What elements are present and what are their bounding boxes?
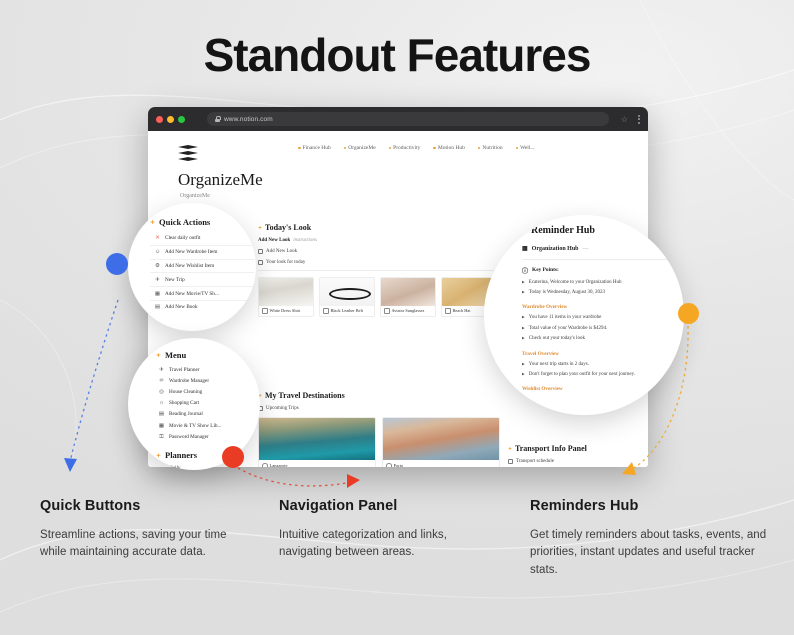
reminder-hub-panel: Reminder Hub ▦ Organization Hub — ⓘ Key … xyxy=(522,225,674,392)
caption-heading: Reminders Hub xyxy=(530,498,770,514)
connector-dot-orange xyxy=(678,303,699,324)
upcoming-trips-label: Upcoming Trips xyxy=(266,406,299,411)
quick-action-label: Add New Wishlist Item xyxy=(165,263,214,269)
wardrobe-point-item: Check out your today's look xyxy=(522,336,674,341)
outfit-card[interactable]: White Dress Shirt xyxy=(258,277,314,318)
quick-action-add-wardrobe-item[interactable]: ☺ Add New Wardrobe Item xyxy=(150,246,254,260)
menu-item-label: Shopping Cart xyxy=(169,400,199,406)
travel-point-item: Don't forget to plan your outfit for you… xyxy=(522,372,674,377)
quick-action-label: Add New Movie/TV Sh... xyxy=(165,291,219,297)
lock-icon xyxy=(215,116,220,122)
trip-card[interactable]: Porto xyxy=(382,417,500,467)
trip-card[interactable]: Lanzarote xyxy=(258,417,376,467)
menu-item-house-cleaning[interactable]: ◎ House Cleaning xyxy=(156,386,256,397)
nav-item-nutrition[interactable]: Nutrition xyxy=(478,145,503,151)
transport-schedule-label: Transport schedule xyxy=(516,459,554,464)
key-points-label: Key Points: xyxy=(532,267,559,273)
browser-toolbar: www.notion.com ☆ xyxy=(148,107,648,131)
quick-action-new-trip[interactable]: ✈ New Trip xyxy=(150,273,254,287)
notion-header: OrganizeMe OrganizeMe xyxy=(148,131,648,199)
plane-icon: ✈ xyxy=(158,367,165,373)
wardrobe-point-item: You have 11 items in your wardrobe xyxy=(522,315,674,320)
connector-dot-blue xyxy=(106,253,128,275)
person-icon xyxy=(258,260,263,265)
nav-item-organizeme[interactable]: OrganizeMe xyxy=(344,145,376,151)
quick-action-label: Add New Wardrobe Item xyxy=(165,249,217,255)
quick-action-label: Clear daily outfit xyxy=(165,235,200,241)
notion-topnav[interactable]: Finance Hub OrganizeMe Productivity Moti… xyxy=(298,145,642,151)
transport-info-title: Transport Info Panel xyxy=(508,444,648,453)
transport-schedule-row[interactable]: Transport schedule xyxy=(508,459,648,464)
your-look-row[interactable]: Your look for today xyxy=(258,260,508,265)
building-icon: ▦ xyxy=(522,245,528,252)
caption-quick-buttons: Quick Buttons Streamline actions, saving… xyxy=(0,498,268,618)
quick-action-clear-daily-outfit[interactable]: ✕ Clear daily outfit xyxy=(150,232,254,246)
menu-item-label: Reading Journal xyxy=(169,411,203,417)
film-icon: ▦ xyxy=(154,291,161,297)
outfit-card-list: White Dress Shirt Black Leather Belt Avi… xyxy=(258,277,508,318)
nav-item-finance-hub[interactable]: Finance Hub xyxy=(298,145,331,151)
quick-actions-bubble: Quick Actions ✕ Clear daily outfit ☺ Add… xyxy=(128,203,256,331)
add-new-look-note: instructions xyxy=(293,238,317,243)
menu-title: Menu xyxy=(156,350,256,360)
add-new-look-label: Add New Look xyxy=(258,238,290,243)
quick-actions-title: Quick Actions xyxy=(150,217,254,227)
brand-subtitle: OrganizeMe xyxy=(178,193,648,199)
trip-card-list: Lanzarote Porto xyxy=(258,417,508,467)
info-icon: ⓘ xyxy=(522,266,528,275)
outfit-card[interactable]: Aviator Sunglasses xyxy=(380,277,436,318)
quick-actions-panel: Quick Actions ✕ Clear daily outfit ☺ Add… xyxy=(150,217,254,314)
travel-overview-heading: Travel Overview xyxy=(522,351,674,357)
plane-icon: ✈ xyxy=(154,277,161,283)
wishlist-overview-heading: Wishlist Overview xyxy=(522,386,674,392)
page-title: Standout Features xyxy=(0,28,794,82)
person-icon xyxy=(258,249,263,254)
journal-icon: ▤ xyxy=(158,411,165,417)
star-icon[interactable]: ☆ xyxy=(621,115,628,124)
trip-card-label: Porto xyxy=(383,460,499,467)
wardrobe-point-item: Total value of your Wardrobe is $4294. xyxy=(522,326,674,331)
outfit-card-label: White Dress Shirt xyxy=(259,306,313,317)
organization-hub-label: Organization Hub xyxy=(532,246,579,252)
train-icon xyxy=(508,459,513,464)
book-icon: ▤ xyxy=(154,304,161,310)
todays-look-section: Today's Look Add New Look instructions A… xyxy=(258,223,508,317)
menu-item-shopping-cart[interactable]: ☼ Shopping Cart xyxy=(156,398,256,409)
trip-card-label: Lanzarote xyxy=(259,460,375,467)
travel-point-item: Your next trip starts in 2 days. xyxy=(522,362,674,367)
menu-item-label: Wardrobe Manager xyxy=(169,378,209,384)
hanger-icon: ♾ xyxy=(158,378,165,384)
outfit-image xyxy=(381,278,435,306)
caption-body: Streamline actions, saving your time whi… xyxy=(40,527,244,562)
quick-actions-list: ✕ Clear daily outfit ☺ Add New Wardrobe … xyxy=(150,232,254,314)
quick-action-label: Add New Book xyxy=(165,304,198,310)
divider xyxy=(522,259,674,260)
menu-list: ✈ Travel Planner ♾ Wardrobe Manager ◎ Ho… xyxy=(156,364,256,443)
caption-body: Intuitive categorization and links, navi… xyxy=(279,527,496,562)
add-new-look-row[interactable]: Add New Look instructions xyxy=(258,238,508,243)
feature-captions: Quick Buttons Streamline actions, saving… xyxy=(0,498,794,618)
quick-action-add-movie-tv-show[interactable]: ▦ Add New Movie/TV Sh... xyxy=(150,287,254,301)
menu-item-password-manager[interactable]: ⚿ Password Manager xyxy=(156,431,256,443)
upcoming-trips-filter[interactable]: Upcoming Trips xyxy=(258,406,508,411)
planners-item-label: Daily xyxy=(169,465,181,470)
lock-icon: ⚿ xyxy=(158,434,165,441)
nav-item-productivity[interactable]: Productivity xyxy=(389,145,421,151)
brand-title: OrganizeMe xyxy=(178,170,648,190)
nav-item-wellness[interactable]: Well... xyxy=(516,145,535,151)
film-icon: ▦ xyxy=(158,423,165,429)
menu-item-reading-journal[interactable]: ▤ Reading Journal xyxy=(156,409,256,420)
transport-info-section: Transport Info Panel Transport schedule xyxy=(508,444,648,464)
connector-dot-red xyxy=(222,446,244,468)
trip-image xyxy=(383,418,499,460)
menu-item-travel-planner[interactable]: ✈ Travel Planner xyxy=(156,364,256,375)
reminder-hub-bubble: Reminder Hub ▦ Organization Hub — ⓘ Key … xyxy=(484,215,684,415)
minimize-button[interactable] xyxy=(167,116,174,123)
outfit-image xyxy=(320,278,374,306)
caption-heading: Quick Buttons xyxy=(40,498,244,514)
travel-destinations-title: My Travel Destinations xyxy=(258,391,508,400)
menu-item-label: Movie & TV Show Lib... xyxy=(169,423,221,429)
key-point-item: Ecaterina, Welcome to your Organization … xyxy=(522,280,674,285)
menu-item-movie-tv-library[interactable]: ▦ Movie & TV Show Lib... xyxy=(156,420,256,431)
trip-image xyxy=(259,418,375,460)
your-look-label: Your look for today xyxy=(266,260,305,265)
add-new-look-button[interactable]: Add New Look xyxy=(258,249,508,254)
key-points-heading: ⓘ Key Points: xyxy=(522,266,674,275)
window-controls[interactable] xyxy=(156,116,185,123)
quick-action-add-book[interactable]: ▤ Add New Book xyxy=(150,301,254,314)
quick-action-add-wishlist-item[interactable]: ⚙ Add New Wishlist Item xyxy=(150,260,254,274)
caption-heading: Navigation Panel xyxy=(279,498,496,514)
todays-look-title: Today's Look xyxy=(258,223,508,232)
reminder-hub-title: Reminder Hub xyxy=(522,225,674,236)
maximize-button[interactable] xyxy=(178,116,185,123)
menu-item-label: House Cleaning xyxy=(169,389,202,395)
organization-hub-row[interactable]: ▦ Organization Hub — xyxy=(522,245,674,252)
outfit-image xyxy=(259,278,313,306)
broom-icon: ◎ xyxy=(158,389,165,395)
divider xyxy=(258,270,508,271)
outfit-card-label: Aviator Sunglasses xyxy=(381,306,435,317)
person-icon: ☺ xyxy=(154,249,161,255)
quick-action-label: New Trip xyxy=(165,277,185,283)
menu-item-label: Travel Planner xyxy=(169,367,200,373)
key-point-item: Today is Wednesday, August 30, 2023 xyxy=(522,290,674,295)
caption-reminders-hub: Reminders Hub Get timely reminders about… xyxy=(520,498,794,618)
url-text: www.notion.com xyxy=(224,116,273,123)
outfit-card[interactable]: Black Leather Belt xyxy=(319,277,375,318)
calendar-icon: ▤ xyxy=(158,465,165,470)
x-icon: ✕ xyxy=(154,235,161,241)
nav-item-motion-hub[interactable]: Motion Hub xyxy=(433,145,465,151)
caption-body: Get timely reminders about tasks, events… xyxy=(530,527,770,579)
chevron-down-icon[interactable]: — xyxy=(583,246,589,252)
gear-icon: ⚙ xyxy=(154,263,161,269)
stack-logo-icon xyxy=(178,145,198,161)
kebab-menu-icon[interactable] xyxy=(636,115,640,124)
outfit-card-label: Black Leather Belt xyxy=(320,306,374,317)
wardrobe-overview-heading: Wardrobe Overview xyxy=(522,304,674,310)
cart-icon: ☼ xyxy=(158,400,165,406)
add-new-look-button-label: Add New Look xyxy=(266,249,297,254)
menu-item-wardrobe-manager[interactable]: ♾ Wardrobe Manager xyxy=(156,375,256,386)
address-bar[interactable]: www.notion.com xyxy=(207,112,609,126)
menu-item-label: Password Manager xyxy=(169,434,209,440)
travel-destinations-section: My Travel Destinations Upcoming Trips La… xyxy=(258,391,508,467)
close-button[interactable] xyxy=(156,116,163,123)
caption-navigation-panel: Navigation Panel Intuitive categorizatio… xyxy=(268,498,520,618)
